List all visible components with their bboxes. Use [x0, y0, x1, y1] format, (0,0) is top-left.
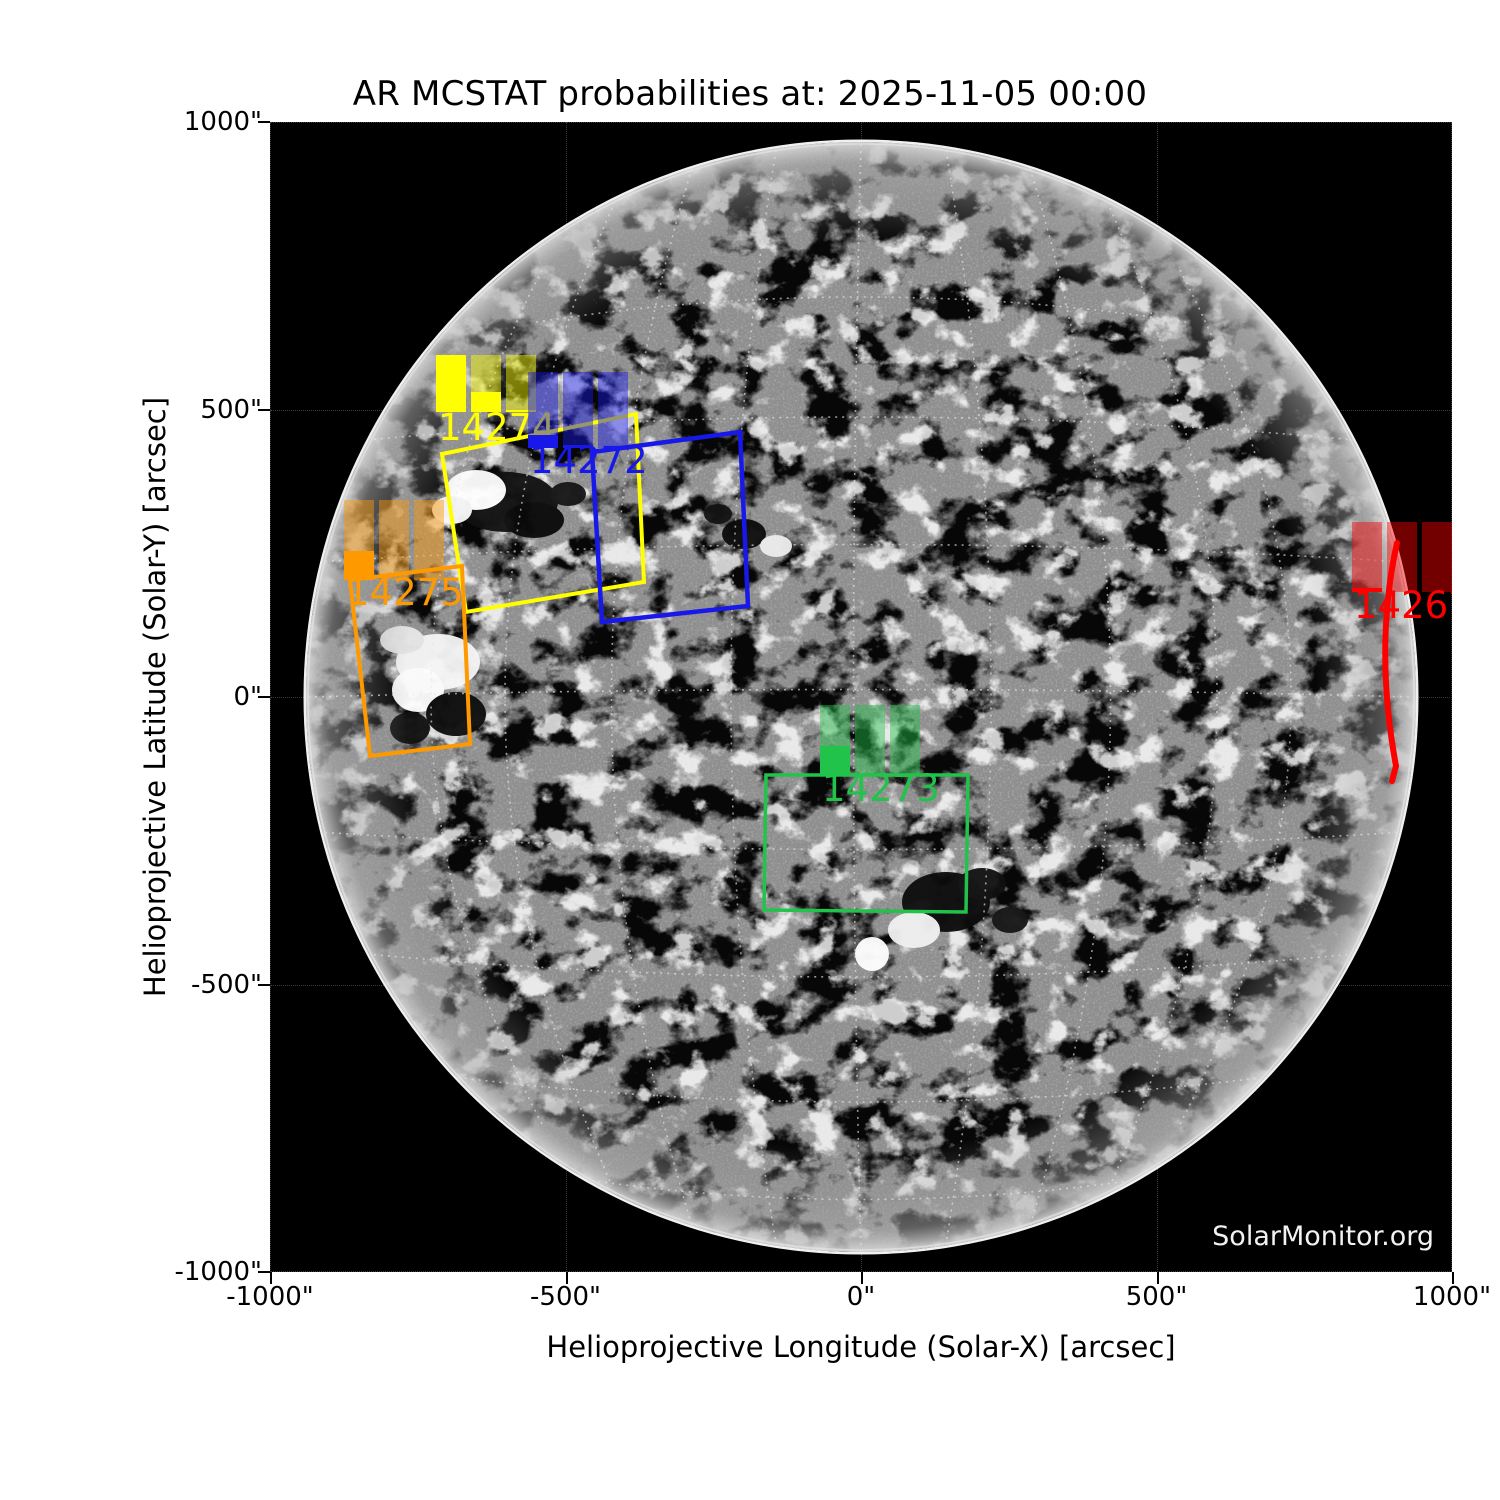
heliographic-grid	[306, 142, 1416, 1252]
y-tick-label: -500"	[191, 970, 262, 1000]
y-tick-mark	[258, 696, 270, 698]
y-tick-label: 1000"	[184, 107, 262, 137]
x-tick-mark	[861, 1272, 863, 1284]
x-tick-mark	[270, 1272, 272, 1284]
x-tick-label: 0"	[847, 1282, 876, 1312]
y-tick-mark	[258, 121, 270, 123]
y-tick-mark	[258, 1271, 270, 1273]
solar-magnetogram-figure: AR MCSTAT probabilities at: 2025-11-05 0…	[0, 0, 1500, 1500]
y-tick-mark	[258, 984, 270, 986]
x-tick-mark	[1157, 1272, 1159, 1284]
x-tick-label: 1000"	[1413, 1282, 1491, 1312]
x-tick-label: -500"	[530, 1282, 601, 1312]
x-tick-label: 500"	[1126, 1282, 1188, 1312]
solar-disk-container	[270, 122, 1452, 1272]
y-axis-title: Helioprojective Latitude (Solar-Y) [arcs…	[138, 122, 172, 1272]
x-axis-title: Helioprojective Longitude (Solar-X) [arc…	[270, 1330, 1452, 1364]
x-tick-label: -1000"	[226, 1282, 314, 1312]
plot-area: 14274 14272	[270, 122, 1452, 1272]
x-tick-mark	[566, 1272, 568, 1284]
solar-disk	[306, 142, 1416, 1252]
x-tick-mark	[1452, 1272, 1454, 1284]
y-tick-mark	[258, 409, 270, 411]
watermark: SolarMonitor.org	[1212, 1221, 1434, 1252]
y-tick-label: 500"	[200, 395, 262, 425]
